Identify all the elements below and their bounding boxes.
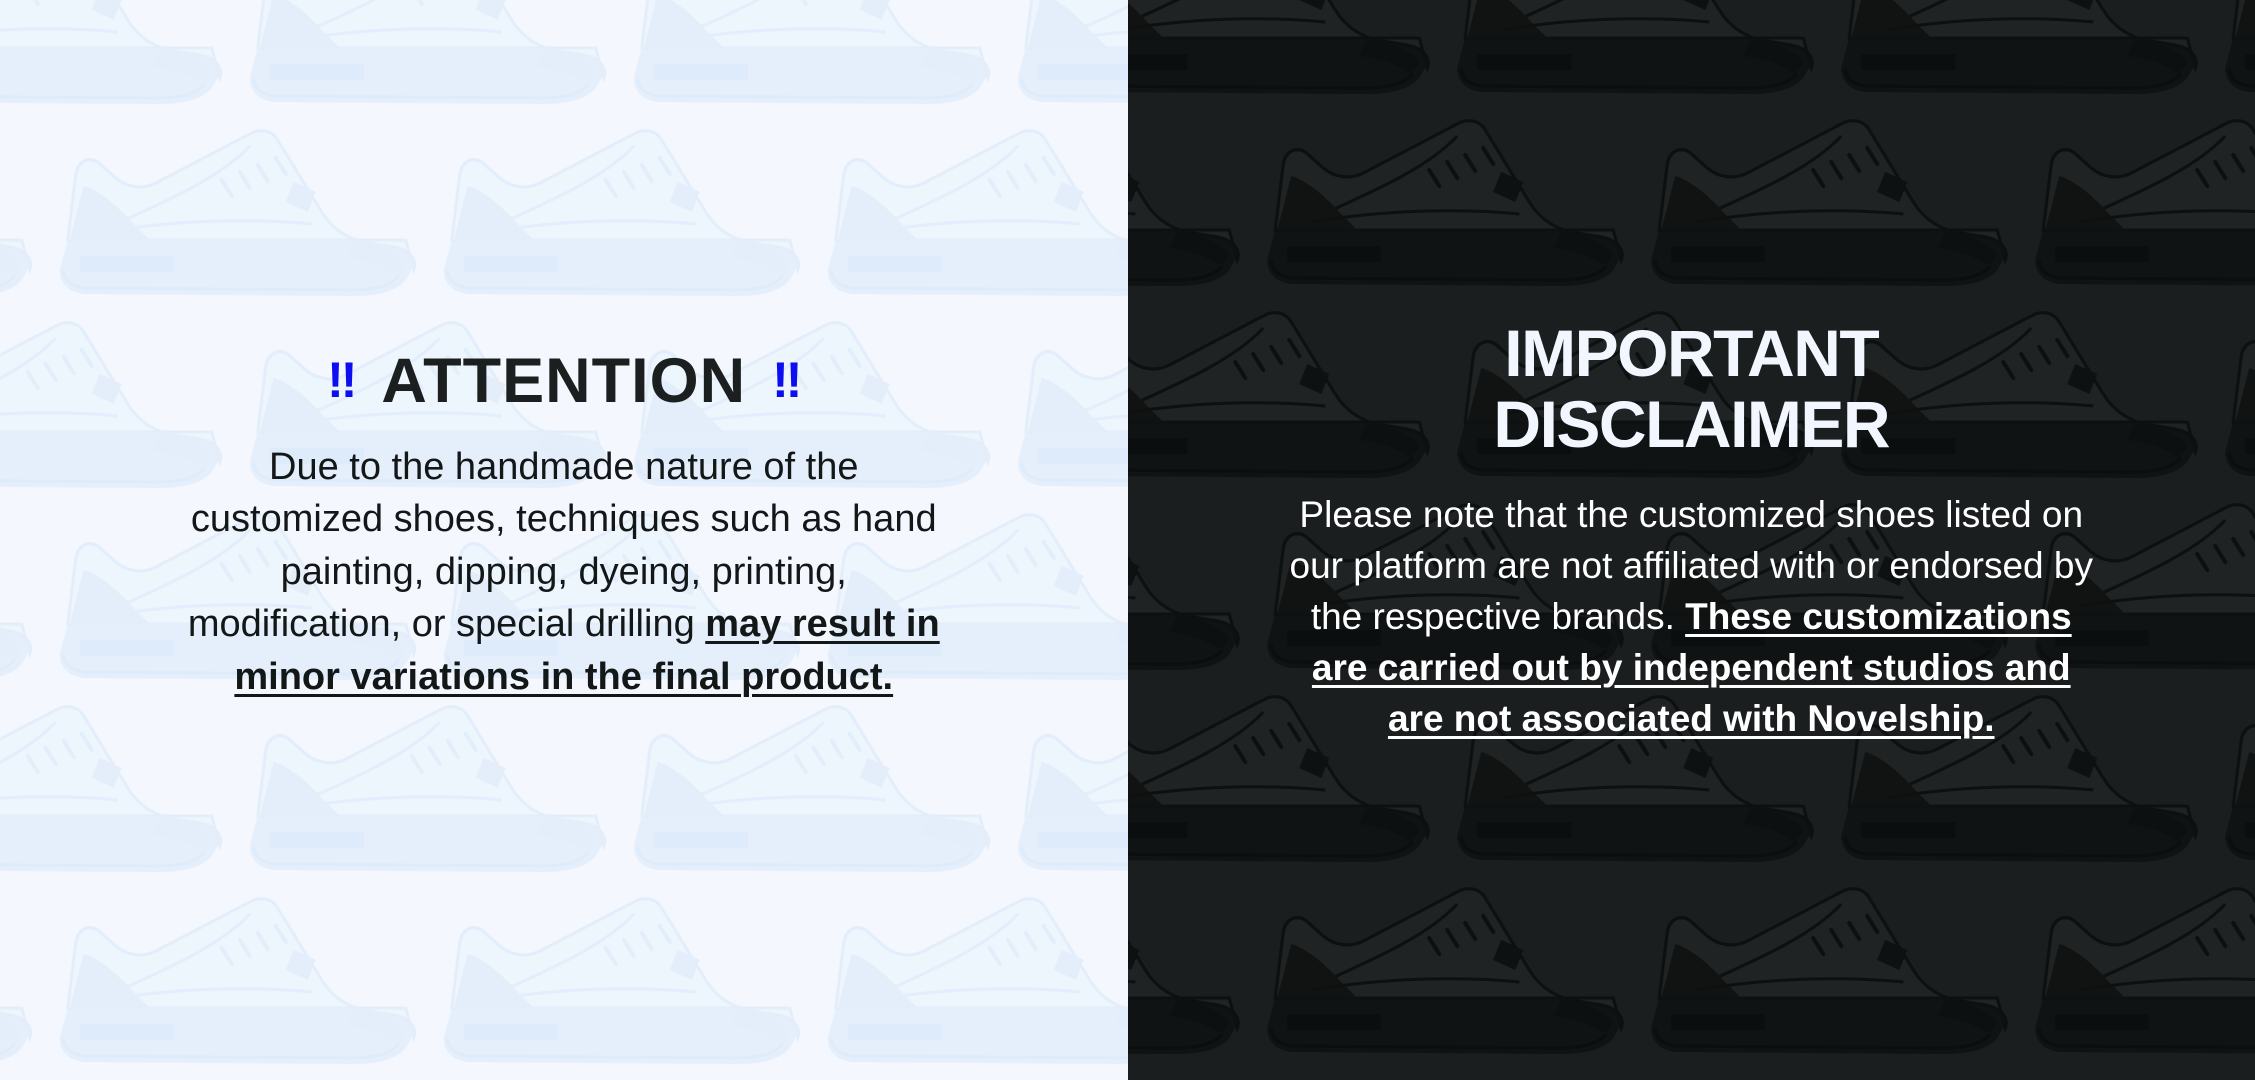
disclaimer-heading: IMPORTANT DISCLAIMER [1493, 318, 1889, 459]
disclaimer-heading-line1: IMPORTANT [1504, 316, 1878, 390]
disclaimer-content: IMPORTANT DISCLAIMER Please note that th… [1128, 0, 2255, 744]
disclaimer-panel: IMPORTANT DISCLAIMER Please note that th… [1128, 0, 2255, 1080]
disclaimer-banner: ‼ ATTENTION ‼ Due to the handmade nature… [0, 0, 2255, 1080]
attention-heading: ‼ ATTENTION ‼ [327, 350, 800, 413]
attention-panel: ‼ ATTENTION ‼ Due to the handmade nature… [0, 0, 1128, 1080]
disclaimer-body: Please note that the customized shoes li… [1281, 489, 2101, 744]
attention-heading-text: ATTENTION [381, 350, 746, 413]
disclaimer-heading-line2: DISCLAIMER [1493, 387, 1889, 461]
attention-content: ‼ ATTENTION ‼ Due to the handmade nature… [0, 0, 1128, 703]
double-exclamation-left-icon: ‼ [327, 355, 355, 405]
attention-body: Due to the handmade nature of the custom… [169, 441, 959, 703]
double-exclamation-right-icon: ‼ [772, 355, 800, 405]
